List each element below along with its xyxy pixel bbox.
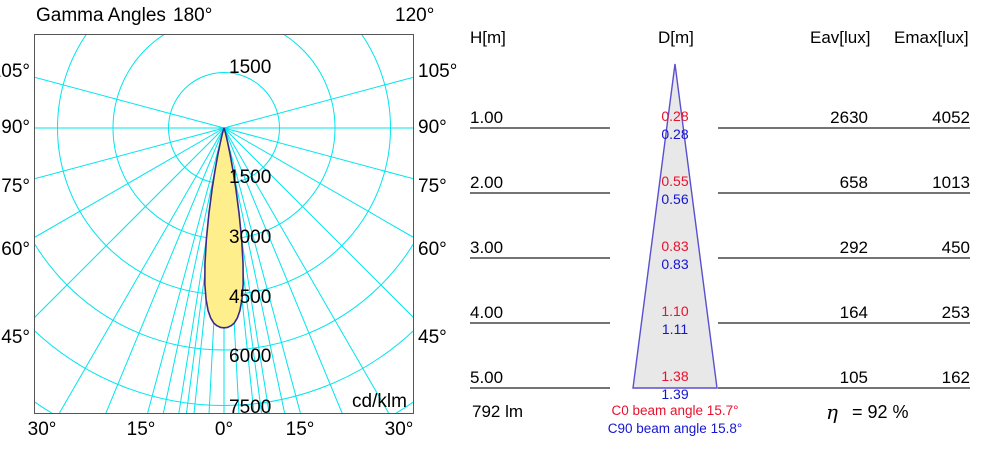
cone-d-c90-2: 0.56	[635, 191, 715, 207]
table-row-eav-1: 2630	[772, 108, 868, 128]
ring-label-4500: 4500	[229, 287, 271, 309]
bottom-angle-15-right: 15°	[272, 420, 328, 439]
cone-d-c0-5: 1.38	[635, 368, 715, 384]
gamma-right-60: 60°	[418, 240, 447, 259]
gamma-right-45: 45°	[418, 328, 447, 347]
table-row-emax-3: 450	[880, 238, 970, 258]
cone-d-c0-3: 0.83	[635, 238, 715, 254]
ring-label-3000: 3000	[229, 227, 271, 249]
bottom-angle-30-left: 30°	[14, 420, 70, 439]
table-row-emax-4: 253	[880, 303, 970, 323]
polar-grid-svg	[35, 35, 413, 413]
cone-d-c0-1: 0.28	[635, 108, 715, 124]
column-header-eav: Eav[lux]	[810, 28, 870, 48]
luminous-flux-value: 792 lm	[472, 402, 523, 422]
table-row-h-4: 4.00	[470, 303, 503, 323]
column-header-h: H[m]	[470, 28, 506, 48]
gamma-left-45: 45°	[0, 328, 30, 347]
ring-label-1500: 1500	[229, 167, 271, 189]
table-row-emax-5: 162	[880, 368, 970, 388]
polar-top-angle-120: 120°	[395, 6, 434, 25]
gamma-right-75: 75°	[418, 177, 447, 196]
table-row-eav-3: 292	[772, 238, 868, 258]
gamma-right-105: 105°	[418, 62, 457, 81]
cone-d-c90-1: 0.28	[635, 126, 715, 142]
beam-angle-c90: C90 beam angle 15.8°	[595, 421, 755, 436]
table-row-h-3: 3.00	[470, 238, 503, 258]
gamma-left-60: 60°	[0, 240, 30, 259]
ring-label-7500: 7500	[229, 397, 271, 414]
gamma-left-75: 75°	[0, 177, 30, 196]
bottom-angle-30-right: 30°	[371, 420, 427, 439]
cone-d-c90-3: 0.83	[635, 256, 715, 272]
beam-angle-c0: C0 beam angle 15.7°	[595, 403, 755, 418]
table-row-emax-2: 1013	[880, 173, 970, 193]
gamma-left-90: 90°	[0, 118, 30, 137]
polar-top-angle-180: 180°	[173, 6, 212, 25]
table-row-h-2: 2.00	[470, 173, 503, 193]
table-row-eav-2: 658	[772, 173, 868, 193]
gamma-left-105: 105°	[0, 62, 30, 81]
cone-d-c0-4: 1.10	[635, 303, 715, 319]
efficiency-symbol: η	[826, 400, 838, 424]
bottom-angle-0: 0°	[196, 420, 252, 439]
bottom-angle-15-left: 15°	[113, 420, 169, 439]
efficiency-value: = 92 %	[852, 402, 909, 423]
cone-table-panel: H[m] D[m] Eav[lux] Emax[lux] 1.00 0.28 0…	[460, 0, 990, 450]
table-row-h-5: 5.00	[470, 368, 503, 388]
table-row-h-1: 1.00	[470, 108, 503, 128]
cone-d-c0-2: 0.55	[635, 173, 715, 189]
table-row-eav-5: 105	[772, 368, 868, 388]
cone-d-c90-4: 1.11	[635, 321, 715, 337]
table-row-emax-1: 4052	[880, 108, 970, 128]
column-header-emax: Emax[lux]	[894, 28, 969, 48]
polar-unit-label: cd/klm	[352, 392, 407, 411]
gamma-right-90: 90°	[418, 118, 447, 137]
ring-label-6000: 6000	[229, 346, 271, 368]
ring-label-1500-top: 1500	[229, 57, 271, 79]
cone-d-c90-5: 1.39	[635, 386, 715, 402]
table-row-eav-4: 164	[772, 303, 868, 323]
polar-diagram-panel: Gamma Angles 180° 120° 105° 90° 75° 60° …	[0, 0, 460, 450]
column-header-d: D[m]	[658, 28, 694, 48]
polar-chart-title: Gamma Angles	[36, 6, 166, 25]
polar-plot-area: 1500 1500 3000 4500 6000 7500	[34, 34, 414, 414]
